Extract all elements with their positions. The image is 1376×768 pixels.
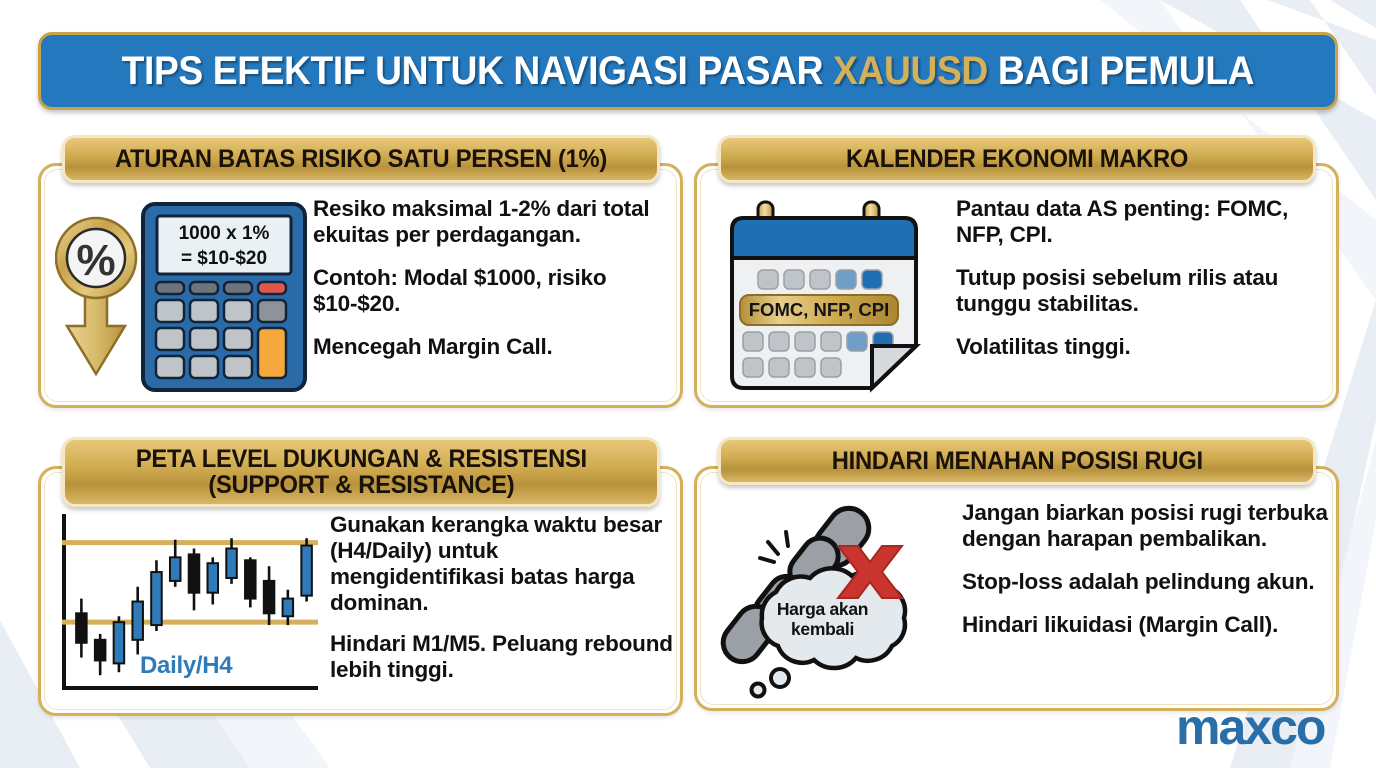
sr-paragraph-2: Hindari M1/M5. Peluang rebound lebih tin…	[330, 631, 678, 683]
sr-header-line1: PETA LEVEL DUKUNGAN & RESISTENSI	[136, 446, 587, 472]
maxco-logo-x-stripes	[1240, 716, 1270, 744]
calendar-folded-corner	[872, 346, 916, 388]
candle-body-up	[283, 599, 294, 617]
banner-title-after: BAGI PEMULA	[988, 49, 1254, 93]
card-header-support-resistance-label: PETA LEVEL DUKUNGAN & RESISTENSI (SUPPOR…	[136, 446, 587, 499]
candle-body-down	[76, 613, 87, 642]
chart-timeframe-label: Daily/H4	[140, 652, 232, 680]
calculator-screen-line1: 1000 x 1%	[179, 223, 270, 244]
candle-body-up	[301, 546, 312, 596]
calendar-days-row-1	[758, 270, 882, 289]
candle-body-down	[264, 581, 275, 613]
candlestick-chart-icon: Daily/H4	[50, 512, 330, 710]
loss-paragraph-2: Stop-loss adalah pelindung akun.	[962, 569, 1332, 595]
calendar-paragraph-1: Pantau data AS penting: FOMC, NFP, CPI.	[956, 196, 1332, 248]
candle-body-up	[114, 622, 125, 663]
percent-symbol: %	[76, 236, 115, 285]
sr-header-line2: (SUPPORT & RESISTANCE)	[136, 472, 587, 498]
candle-body-up	[151, 572, 162, 625]
calendar-paragraph-3: Volatilitas tinggi.	[956, 334, 1332, 360]
risk-paragraph-2: Contoh: Modal $1000, risiko $10-$20.	[313, 265, 673, 317]
sr-paragraph-1: Gunakan kerangka waktu besar (H4/Daily) …	[330, 512, 678, 616]
bubble-line1: Harga akan	[750, 600, 895, 620]
loss-paragraph-1: Jangan biarkan posisi rugi terbuka denga…	[962, 500, 1332, 552]
card-body-support-resistance: Daily/H4 Gunakan kerangka waktu besar (H…	[50, 512, 678, 710]
page-title: TIPS EFEKTIF UNTUK NAVIGASI PASAR XAUUSD…	[122, 49, 1255, 94]
maxco-logo: maxco	[1176, 700, 1346, 752]
candle-body-up	[132, 602, 143, 640]
candle-body-down	[95, 640, 106, 661]
card-header-macro-calendar-label: KALENDER EKONOMI MAKRO	[846, 146, 1188, 172]
card-header-risk-rule: ATURAN BATAS RISIKO SATU PERSEN (1%)	[62, 135, 660, 183]
thought-bubble-dot-small	[752, 684, 765, 697]
calendar-event-label: FOMC, NFP, CPI	[749, 299, 889, 320]
banner-title-highlight: XAUUSD	[833, 49, 988, 93]
calculator-screen-line2: = $10-$20	[181, 248, 267, 269]
banner-title-before: TIPS EFEKTIF UNTUK NAVIGASI PASAR	[122, 49, 833, 93]
card-header-support-resistance: PETA LEVEL DUKUNGAN & RESISTENSI (SUPPOR…	[62, 437, 660, 507]
card-text-losing-position: Jangan biarkan posisi rugi terbuka denga…	[962, 500, 1332, 705]
card-text-support-resistance: Gunakan kerangka waktu besar (H4/Daily) …	[330, 512, 678, 710]
calendar-header-bar	[732, 218, 916, 258]
card-header-macro-calendar: KALENDER EKONOMI MAKRO	[718, 135, 1316, 183]
page-banner: TIPS EFEKTIF UNTUK NAVIGASI PASAR XAUUSD…	[38, 32, 1338, 110]
calendar-paragraph-2: Tutup posisi sebelum rilis atau tunggu s…	[956, 265, 1332, 317]
candle-body-up	[208, 563, 219, 592]
calculator-percent-icon: % 1000 x 1% = $10-$20	[55, 196, 313, 404]
loss-paragraph-3: Hindari likuidasi (Margin Call).	[962, 612, 1332, 638]
card-text-macro-calendar: Pantau data AS penting: FOMC, NFP, CPI. …	[956, 196, 1332, 404]
card-body-macro-calendar: FOMC, NFP, CPI	[714, 196, 1332, 404]
risk-paragraph-1: Resiko maksimal 1-2% dari total ekuitas …	[313, 196, 673, 248]
thought-bubble-dot-large	[771, 669, 789, 687]
maxco-logo-mark: maxco	[1176, 700, 1346, 752]
card-text-risk-rule: Resiko maksimal 1-2% dari total ekuitas …	[313, 196, 673, 404]
risk-paragraph-3: Mencegah Margin Call.	[313, 334, 673, 360]
card-header-losing-position: HINDARI MENAHAN POSISI RUGI	[718, 437, 1316, 485]
bubble-line2: kembali	[750, 620, 895, 640]
candle-body-down	[189, 554, 200, 592]
candle-body-up	[226, 549, 237, 578]
candle-body-up	[170, 557, 181, 581]
thought-bubble-text: Harga akan kembali	[750, 600, 895, 640]
card-body-risk-rule: % 1000 x 1% = $10-$20	[55, 196, 673, 404]
card-header-risk-rule-label: ATURAN BATAS RISIKO SATU PERSEN (1%)	[115, 146, 607, 172]
card-body-losing-position: Harga akan kembali Jangan biarkan posisi…	[710, 500, 1332, 705]
card-header-losing-position-label: HINDARI MENAHAN POSISI RUGI	[831, 448, 1202, 474]
calendar-icon: FOMC, NFP, CPI	[714, 196, 956, 404]
candle-body-down	[245, 560, 256, 598]
broken-chain-icon: Harga akan kembali	[710, 500, 962, 705]
